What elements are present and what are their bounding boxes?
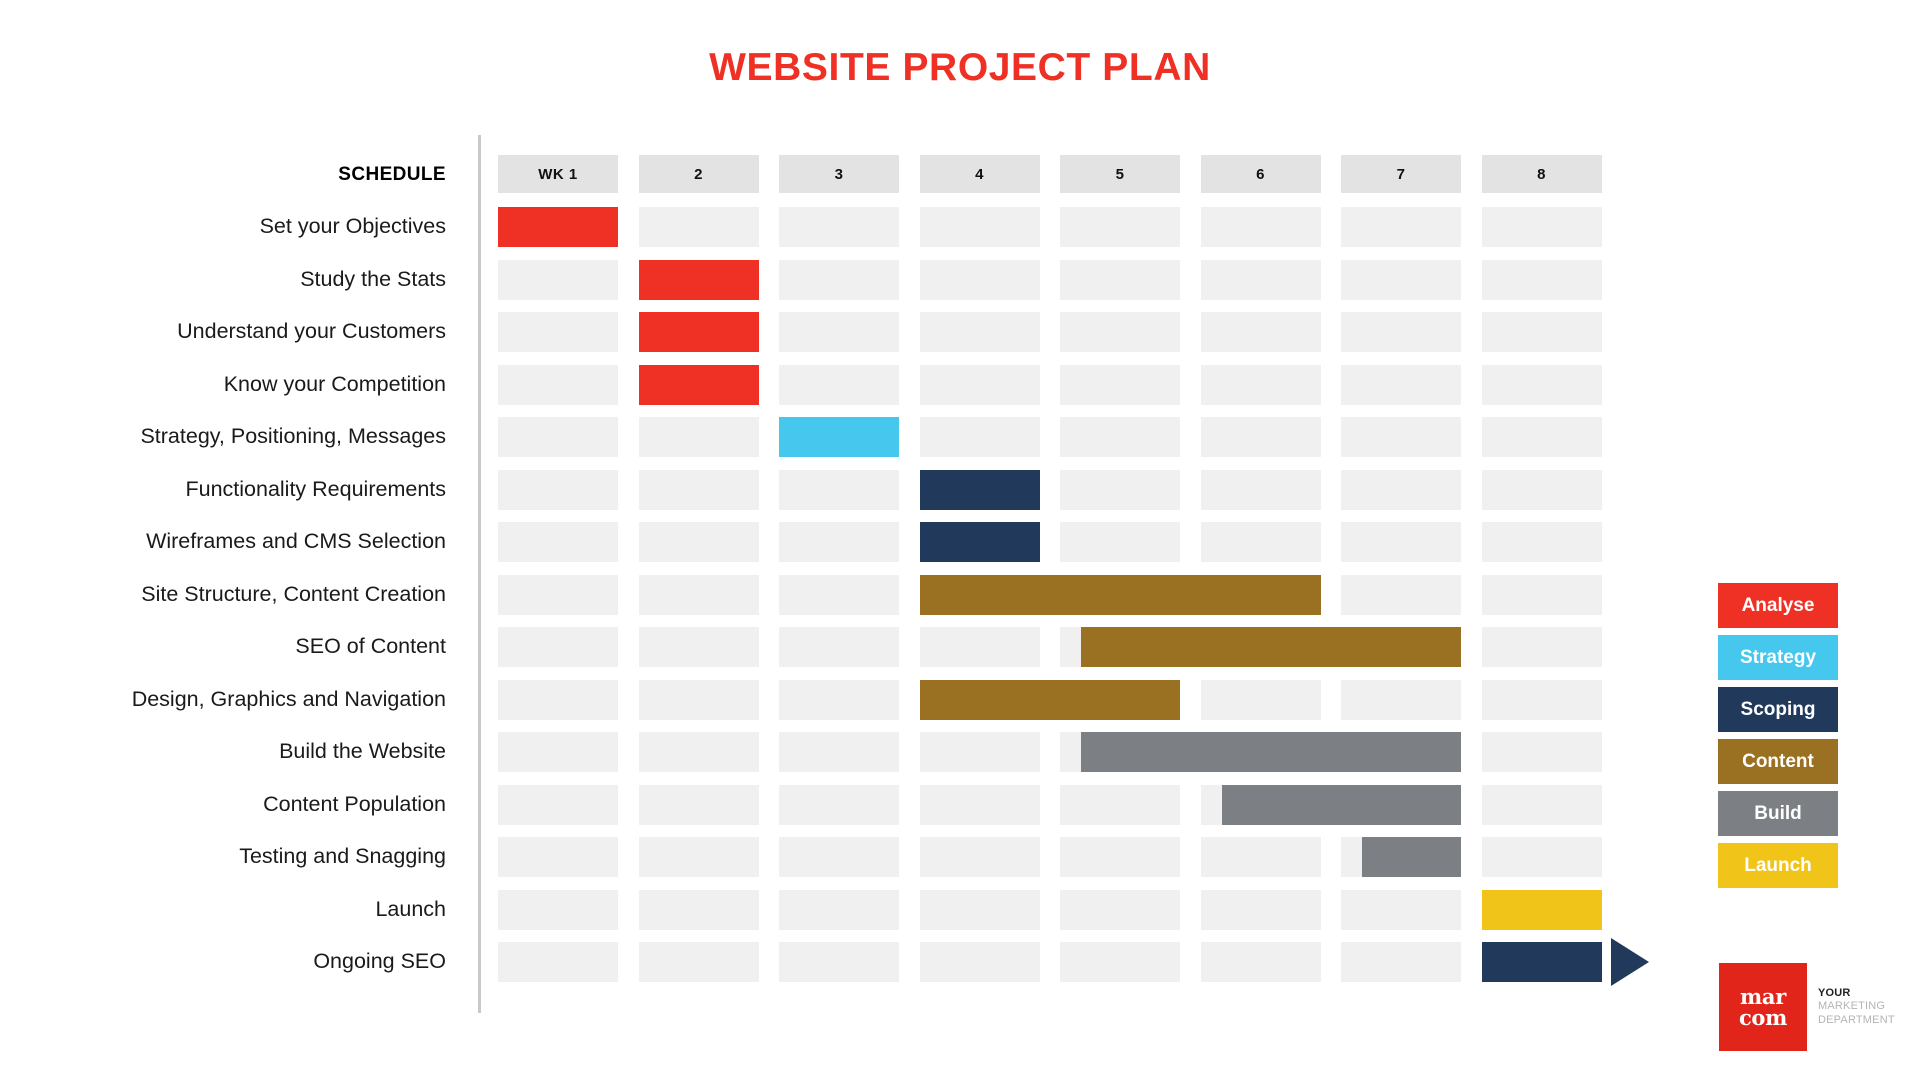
grid-cell[interactable]	[920, 942, 1040, 982]
grid-cell[interactable]	[639, 575, 759, 615]
week-header-4[interactable]: 4	[920, 155, 1040, 193]
grid-cell[interactable]	[1482, 680, 1602, 720]
schedule-column-header: SCHEDULE	[6, 165, 446, 184]
grid-cell[interactable]	[639, 627, 759, 667]
grid-cell[interactable]	[779, 470, 899, 510]
grid-cell[interactable]	[1482, 312, 1602, 352]
grid-cell[interactable]	[639, 680, 759, 720]
task-label: Wireframes and CMS Selection	[6, 531, 446, 553]
grid-cell[interactable]	[779, 365, 899, 405]
grid-cell[interactable]	[1060, 890, 1180, 930]
task-label: Ongoing SEO	[6, 951, 446, 973]
gantt-bar[interactable]	[639, 260, 759, 300]
grid-cell[interactable]	[1201, 680, 1321, 720]
logo-tagline: YOUR MARKETING DEPARTMENT	[1818, 987, 1895, 1027]
legend-item-analyse[interactable]: Analyse	[1718, 583, 1838, 628]
grid-cell[interactable]	[1341, 942, 1461, 982]
grid-cell[interactable]	[779, 732, 899, 772]
grid-cell[interactable]	[920, 312, 1040, 352]
grid-cell[interactable]	[1341, 417, 1461, 457]
task-label: Testing and Snagging	[6, 846, 446, 868]
grid-cell[interactable]	[779, 942, 899, 982]
legend-item-build[interactable]: Build	[1718, 791, 1838, 836]
task-label: SEO of Content	[6, 636, 446, 658]
gantt-bar[interactable]	[1362, 837, 1461, 877]
task-label: Understand your Customers	[6, 321, 446, 343]
grid-cell[interactable]	[1341, 312, 1461, 352]
grid-cell[interactable]	[920, 732, 1040, 772]
grid-cell[interactable]	[1482, 522, 1602, 562]
grid-cell[interactable]	[1201, 365, 1321, 405]
task-label: Strategy, Positioning, Messages	[6, 426, 446, 448]
week-header-1[interactable]: WK 1	[498, 155, 618, 193]
task-label: Functionality Requirements	[6, 479, 446, 501]
grid-cell[interactable]	[1060, 785, 1180, 825]
legend-item-strategy[interactable]: Strategy	[1718, 635, 1838, 680]
grid-cell[interactable]	[498, 260, 618, 300]
task-label: Content Population	[6, 794, 446, 816]
grid-cell[interactable]	[779, 207, 899, 247]
grid-cell[interactable]	[779, 522, 899, 562]
gantt-bar[interactable]	[639, 312, 759, 352]
grid-cell[interactable]	[1201, 260, 1321, 300]
grid-cell[interactable]	[639, 890, 759, 930]
continuation-arrow-icon	[1611, 938, 1649, 986]
gantt-chart: SCHEDULE Set your ObjectivesStudy the St…	[0, 155, 1640, 1025]
grid-cell[interactable]	[1201, 890, 1321, 930]
grid-cell[interactable]	[498, 680, 618, 720]
grid-cell[interactable]	[1060, 522, 1180, 562]
grid-cell[interactable]	[1482, 207, 1602, 247]
grid-cell[interactable]	[1482, 785, 1602, 825]
grid-cell[interactable]	[1060, 207, 1180, 247]
week-header-6[interactable]: 6	[1201, 155, 1321, 193]
gantt-bar[interactable]	[920, 470, 1040, 510]
gantt-bar[interactable]	[498, 207, 618, 247]
grid-cell[interactable]	[498, 312, 618, 352]
grid-cell[interactable]	[498, 627, 618, 667]
grid-cell[interactable]	[779, 260, 899, 300]
grid-cell[interactable]	[1060, 312, 1180, 352]
grid-cell[interactable]	[1341, 522, 1461, 562]
grid-cell[interactable]	[1201, 207, 1321, 247]
grid-cell[interactable]	[1482, 470, 1602, 510]
task-label: Site Structure, Content Creation	[6, 584, 446, 606]
grid-cell[interactable]	[1201, 522, 1321, 562]
grid-cell[interactable]	[639, 417, 759, 457]
grid-cell[interactable]	[1341, 470, 1461, 510]
grid-cell[interactable]	[1341, 260, 1461, 300]
grid-cell[interactable]	[1341, 680, 1461, 720]
grid-cell[interactable]	[639, 785, 759, 825]
grid-cell[interactable]	[498, 365, 618, 405]
logo-mark-line1: mar	[1740, 986, 1786, 1007]
grid-cell[interactable]	[1060, 260, 1180, 300]
grid-cell[interactable]	[1482, 365, 1602, 405]
gantt-bar[interactable]	[920, 522, 1040, 562]
grid-cell[interactable]	[498, 732, 618, 772]
gantt-bar[interactable]	[639, 365, 759, 405]
grid-cell[interactable]	[498, 470, 618, 510]
grid-cell[interactable]	[1201, 312, 1321, 352]
legend: AnalyseStrategyScopingContentBuildLaunch	[1718, 583, 1838, 895]
grid-cell[interactable]	[639, 207, 759, 247]
grid-cell[interactable]	[920, 260, 1040, 300]
grid-cell[interactable]	[1482, 732, 1602, 772]
grid-cell[interactable]	[1482, 837, 1602, 877]
grid-cell[interactable]	[920, 207, 1040, 247]
grid-cell[interactable]	[639, 522, 759, 562]
grid-cell[interactable]	[498, 417, 618, 457]
grid-cell[interactable]	[779, 837, 899, 877]
grid-cell[interactable]	[779, 575, 899, 615]
grid-cell[interactable]	[1201, 470, 1321, 510]
week-header-3[interactable]: 3	[779, 155, 899, 193]
legend-item-scoping[interactable]: Scoping	[1718, 687, 1838, 732]
page-title: WEBSITE PROJECT PLAN	[0, 46, 1920, 90]
grid-cell[interactable]	[1060, 365, 1180, 405]
task-label: Launch	[6, 899, 446, 921]
gantt-bar[interactable]	[920, 575, 1321, 615]
grid-cell[interactable]	[1482, 260, 1602, 300]
grid-cell[interactable]	[1201, 837, 1321, 877]
grid-cell[interactable]	[920, 837, 1040, 877]
gantt-bar[interactable]	[1081, 732, 1461, 772]
grid-cell[interactable]	[498, 942, 618, 982]
grid-cell[interactable]	[1060, 942, 1180, 982]
grid-cell[interactable]	[639, 470, 759, 510]
grid-cell[interactable]	[498, 785, 618, 825]
grid-cell[interactable]	[1201, 417, 1321, 457]
grid-cell[interactable]	[779, 312, 899, 352]
logo-tagline-line3: DEPARTMENT	[1818, 1014, 1895, 1027]
logo-tagline-line2: MARKETING	[1818, 1000, 1895, 1013]
gantt-bar[interactable]	[1482, 890, 1602, 930]
grid-cell[interactable]	[920, 785, 1040, 825]
grid-cell[interactable]	[920, 627, 1040, 667]
grid-cell[interactable]	[498, 837, 618, 877]
grid-cell[interactable]	[639, 837, 759, 877]
grid-cell[interactable]	[920, 365, 1040, 405]
week-header-8[interactable]: 8	[1482, 155, 1602, 193]
grid-cell[interactable]	[498, 890, 618, 930]
gantt-bar[interactable]	[779, 417, 899, 457]
week-header-7[interactable]: 7	[1341, 155, 1461, 193]
grid-cell[interactable]	[639, 942, 759, 982]
logo-mark-line2: com	[1739, 1007, 1787, 1028]
grid-cell[interactable]	[1341, 207, 1461, 247]
week-header-2[interactable]: 2	[639, 155, 759, 193]
week-header-5[interactable]: 5	[1060, 155, 1180, 193]
gantt-bar[interactable]	[920, 680, 1181, 720]
grid-cell[interactable]	[1060, 417, 1180, 457]
grid-cell[interactable]	[1341, 365, 1461, 405]
logo-tagline-line1: YOUR	[1818, 987, 1895, 1000]
grid-cell[interactable]	[779, 627, 899, 667]
grid-cell[interactable]	[639, 732, 759, 772]
grid-cell[interactable]	[1201, 942, 1321, 982]
grid-cell[interactable]	[1482, 627, 1602, 667]
grid-cell[interactable]	[779, 680, 899, 720]
grid-cell[interactable]	[1341, 575, 1461, 615]
task-label: Set your Objectives	[6, 216, 446, 238]
column-divider	[478, 135, 481, 1013]
task-label: Build the Website	[6, 741, 446, 763]
legend-item-launch[interactable]: Launch	[1718, 843, 1838, 888]
grid-cell[interactable]	[1060, 837, 1180, 877]
marcom-logo: mar com YOUR MARKETING DEPARTMENT	[1719, 963, 1895, 1051]
gantt-bar[interactable]	[1222, 785, 1461, 825]
grid-cell[interactable]	[498, 522, 618, 562]
grid-cell[interactable]	[920, 890, 1040, 930]
task-label: Design, Graphics and Navigation	[6, 689, 446, 711]
grid-cell[interactable]	[1341, 890, 1461, 930]
task-label: Study the Stats	[6, 269, 446, 291]
task-label: Know your Competition	[6, 374, 446, 396]
grid-cell[interactable]	[1060, 470, 1180, 510]
gantt-bar[interactable]	[1081, 627, 1461, 667]
grid-cell[interactable]	[1482, 575, 1602, 615]
gantt-bar[interactable]	[1482, 942, 1602, 982]
grid-cell[interactable]	[779, 785, 899, 825]
grid-cell[interactable]	[1482, 417, 1602, 457]
grid-cell[interactable]	[920, 417, 1040, 457]
legend-item-content[interactable]: Content	[1718, 739, 1838, 784]
grid-cell[interactable]	[779, 890, 899, 930]
grid-cell[interactable]	[498, 575, 618, 615]
logo-mark: mar com	[1719, 963, 1807, 1051]
